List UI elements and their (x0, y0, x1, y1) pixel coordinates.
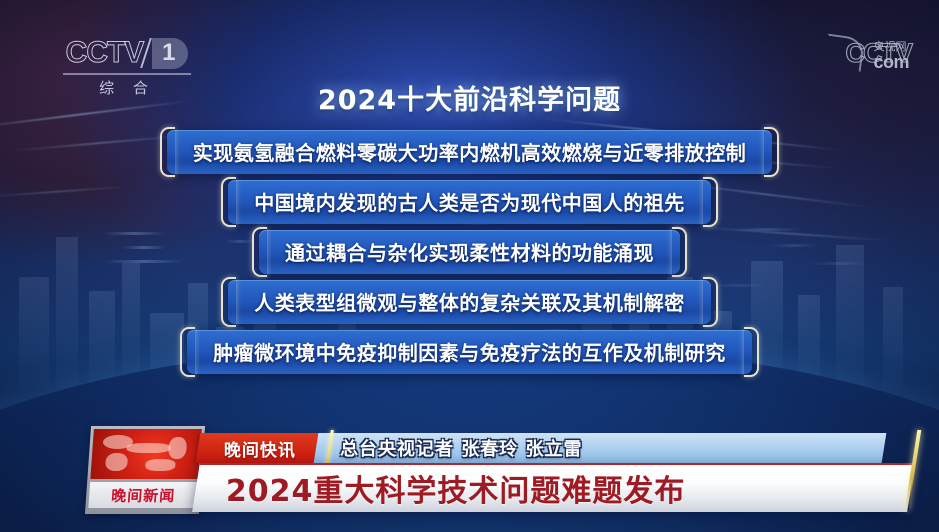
list-item: 肿瘤微环境中免疫抑制因素与免疫疗法的互作及机制研究 (0, 330, 939, 374)
headline-text: 2024重大科学技术问题难题发布 (226, 466, 686, 510)
program-logo-evening-news: 晚间新闻 (85, 426, 205, 514)
headline-bar: 2024重大科学技术问题难题发布 (192, 463, 915, 512)
slide-title: 2024十大前沿科学问题 (0, 78, 939, 117)
list-item: 通过耦合与杂化实现柔性材料的功能涌现 (0, 230, 939, 274)
list-item: 人类表型组微观与整体的复杂关联及其机制解密 (0, 280, 939, 324)
question-pill-5: 肿瘤微环境中免疫抑制因素与免疫疗法的互作及机制研究 (187, 330, 752, 374)
watermark-cctv-com: CCTV 央视网 com (846, 40, 912, 67)
question-pill-1: 实现氨氢融合燃料零碳大功率内燃机高效燃烧与近零排放控制 (167, 130, 773, 174)
question-pill-3: 通过耦合与杂化实现柔性材料的功能涌现 (259, 230, 680, 274)
list-item: 中国境内发现的古人类是否为现代中国人的祖先 (0, 180, 939, 224)
science-questions-list: 实现氨氢融合燃料零碳大功率内燃机高效燃烧与近零排放控制 中国境内发现的古人类是否… (0, 130, 939, 380)
lower-third-banner: 晚间新闻 晚间快讯 总台央视记者 张春玲 张立雷 2024重大科学技术问题难题发… (0, 412, 939, 532)
question-pill-2: 中国境内发现的古人类是否为现代中国人的祖先 (228, 180, 711, 224)
globe-icon (90, 429, 201, 479)
flash-tag-label: 晚间快讯 (224, 436, 296, 461)
flash-tag: 晚间快讯 (196, 433, 319, 463)
channel-logo-underline (63, 73, 191, 75)
broadcast-screen: CCTV 1 综 合 CCTV 央视网 com 2024十大前沿科学问题 实现氨… (0, 0, 939, 532)
list-item: 实现氨氢融合燃料零碳大功率内燃机高效燃烧与近零排放控制 (0, 130, 939, 174)
reporter-strip: 总台央视记者 张春玲 张立雷 (314, 433, 887, 463)
channel-logo-wordmark: CCTV (66, 36, 144, 70)
channel-number-badge: 1 (152, 38, 188, 69)
question-pill-4: 人类表型组微观与整体的复杂关联及其机制解密 (228, 280, 711, 324)
watermark-domain-label: com (873, 54, 909, 71)
reporter-credit: 总台央视记者 张春玲 张立雷 (340, 435, 583, 461)
program-logo-label: 晚间新闻 (88, 482, 198, 508)
